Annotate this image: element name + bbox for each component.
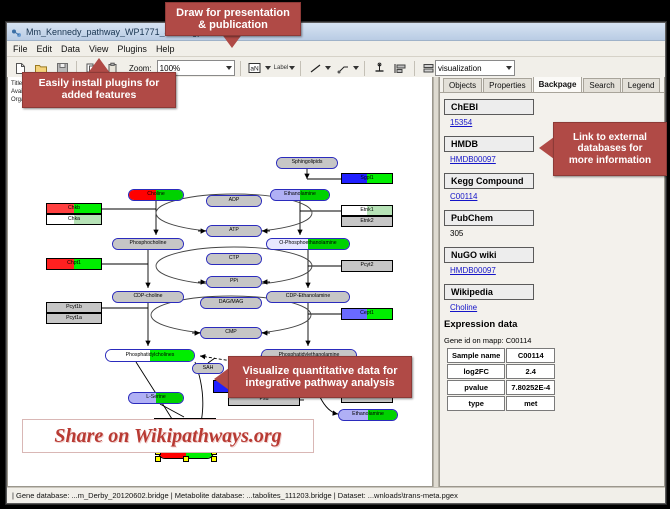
link-nugo[interactable]: HMDB00097: [450, 266, 660, 275]
screenshot-root: Mm_Kennedy_pathway_WP1771_45176.gpml Fil…: [0, 0, 670, 509]
node-label: ATP: [229, 228, 239, 233]
node-label: Chpt1: [67, 261, 81, 266]
expression-data-heading: Expression data: [444, 319, 660, 330]
chevron-down-icon[interactable]: [325, 66, 331, 70]
visualization-combo[interactable]: visualization: [435, 60, 515, 76]
table-row: Sample name C00114: [447, 348, 555, 363]
node-label: Sgpl1: [360, 176, 373, 181]
callout-plugins-text: Easily install plugins for added feature…: [39, 78, 160, 102]
chevron-down-icon[interactable]: [265, 66, 271, 70]
pathway-node-etnk1[interactable]: Etnk1: [341, 205, 393, 216]
cell-val-sample-name: C00114: [506, 348, 555, 363]
link-wikipedia[interactable]: Choline: [450, 303, 660, 312]
pathway-node-phosphatidylcholines[interactable]: Phosphatidylcholines: [105, 349, 195, 362]
interaction-group[interactable]: [334, 59, 359, 77]
tab-legend[interactable]: Legend: [622, 78, 661, 92]
node-label: Phosphatidylcholines: [126, 353, 175, 358]
gene-id-note: Gene id on mapp: C00114: [444, 336, 660, 345]
toolbar-separator-3: [300, 61, 301, 76]
callout-databases-text: Link to external databases for more info…: [569, 132, 651, 166]
tab-properties[interactable]: Properties: [483, 78, 531, 92]
node-label: Ethanolamine: [284, 192, 316, 197]
svg-text:aN: aN: [251, 65, 260, 72]
callout-databases: Link to external databases for more info…: [553, 122, 667, 176]
node-label: Chkb: [68, 206, 80, 211]
node-label: ADP: [229, 198, 240, 203]
node-label: Phosphocholine: [130, 241, 167, 246]
menu-item-plugins[interactable]: Plugins: [117, 44, 147, 54]
datanode-group[interactable]: aN: [246, 59, 271, 77]
node-label: Ethanolamine: [352, 412, 384, 417]
pathway-node-atp[interactable]: ATP: [206, 225, 262, 237]
pathway-node-choline-top[interactable]: Choline: [128, 189, 184, 201]
callout-plugins: Easily install plugins for added feature…: [22, 72, 176, 108]
section-header-kegg: Kegg Compound: [444, 173, 534, 189]
toolbar-separator-2: [240, 61, 241, 76]
callout-visualize-text: Visualize quantitative data for integrat…: [242, 365, 397, 390]
node-label: DAG/MAG: [219, 300, 244, 305]
pathway-node-sphingolipids[interactable]: Sphingolipids: [276, 157, 338, 169]
node-label: CDP-Ethanolamine: [286, 294, 330, 299]
node-label: Chka: [68, 217, 80, 222]
table-row: pvalue 7.80252E-4: [447, 380, 555, 395]
node-label: Etnk2: [360, 219, 373, 224]
pathway-node-o-phosphoethanolamine[interactable]: O-Phosphoethanolamine: [266, 238, 350, 250]
cell-key-log2fc: log2FC: [447, 364, 505, 379]
pathway-node-chpt1[interactable]: Chpt1: [46, 258, 102, 270]
callout-draw-text: Draw for presentation & publication: [176, 7, 290, 32]
pathway-node-cept1[interactable]: Cept1: [341, 308, 393, 320]
chevron-down-icon[interactable]: [353, 66, 359, 70]
menu-item-view[interactable]: View: [89, 44, 108, 54]
pathway-node-chka[interactable]: Chka: [46, 214, 102, 225]
menu-item-file[interactable]: File: [13, 44, 28, 54]
pathway-node-sgpl1[interactable]: Sgpl1: [341, 173, 393, 184]
cell-key-pvalue: pvalue: [447, 380, 505, 395]
value-pubchem: 305: [450, 229, 660, 238]
selection-handle[interactable]: [183, 456, 189, 462]
pathway-node-adp[interactable]: ADP: [206, 195, 262, 207]
callout-visualize: Visualize quantitative data for integrat…: [228, 356, 412, 398]
menu-bar: File Edit Data View Plugins Help: [7, 41, 665, 57]
pathway-node-cmp[interactable]: CMP: [200, 327, 262, 339]
tab-objects[interactable]: Objects: [443, 78, 482, 92]
section-header-chebi: ChEBI: [444, 99, 534, 115]
pathway-node-pcyt1a[interactable]: Pcyt1a: [46, 313, 102, 324]
pathway-node-ethanolamine-top[interactable]: Ethanolamine: [270, 189, 330, 201]
backpage-section-nugo: NuGO wiki HMDB00097: [444, 245, 660, 275]
pathway-node-pcyt1b[interactable]: Pcyt1b: [46, 302, 102, 313]
node-label: Etnk1: [360, 208, 373, 213]
cell-val-log2fc: 2.4: [506, 364, 555, 379]
node-label: CMP: [225, 330, 237, 335]
pathway-node-dag-mag[interactable]: DAG/MAG: [200, 297, 262, 309]
menu-item-data[interactable]: Data: [61, 44, 80, 54]
node-label: Choline: [147, 192, 165, 197]
node-label: SAH: [203, 366, 214, 371]
table-row: type met: [447, 396, 555, 411]
node-label: Pcyt1a: [66, 316, 82, 321]
pathway-node-l-serine-left[interactable]: L-Serine: [128, 392, 184, 404]
selection-handle[interactable]: [211, 456, 217, 462]
app-icon: [11, 26, 22, 37]
pathway-node-ctp[interactable]: CTP: [206, 253, 262, 265]
tab-backpage[interactable]: Backpage: [533, 77, 583, 92]
pathway-node-cdp-choline[interactable]: CDP-choline: [112, 291, 184, 303]
node-label: Cept1: [360, 311, 374, 316]
backpage-section-wikipedia: Wikipedia Choline: [444, 282, 660, 312]
callout-draw: Draw for presentation & publication: [165, 2, 301, 36]
line-group[interactable]: [306, 59, 331, 77]
node-label: PPi: [230, 279, 238, 284]
label-button-text[interactable]: Label: [274, 65, 289, 71]
cell-val-pvalue: 7.80252E-4: [506, 380, 555, 395]
label-group[interactable]: Label: [274, 65, 296, 71]
selection-handle[interactable]: [155, 456, 161, 462]
cell-key-sample-name: Sample name: [447, 348, 505, 363]
chevron-down-icon: [506, 66, 512, 70]
backpage-section-pubchem: PubChem 305: [444, 208, 660, 238]
node-label: Pcyt1b: [66, 305, 82, 310]
menu-item-edit[interactable]: Edit: [37, 44, 53, 54]
callout-databases-arrow-icon: [539, 137, 554, 159]
node-label: Sphingolipids: [292, 160, 323, 165]
visualization-value: visualization: [438, 64, 482, 73]
chevron-down-icon: [226, 66, 232, 70]
section-header-pubchem: PubChem: [444, 210, 534, 226]
pathway-node-ppi[interactable]: PPi: [206, 276, 262, 288]
toolbar-separator-5: [414, 61, 415, 76]
section-header-nugo: NuGO wiki: [444, 247, 534, 263]
side-panel-tabs: Objects Properties Backpage Search Legen…: [440, 77, 664, 93]
callout-visualize-arrow-icon: [214, 368, 229, 390]
callout-share: Share on Wikipathways.org: [22, 419, 314, 453]
link-kegg[interactable]: C00114: [450, 192, 660, 201]
table-row: log2FC 2.4: [447, 364, 555, 379]
cell-key-type: type: [447, 396, 505, 411]
node-label: L-Serine: [146, 395, 166, 400]
pathway-node-cdp-ethanolamine[interactable]: CDP-Ethanolamine: [266, 291, 350, 303]
toolbar-separator-4: [364, 61, 365, 76]
node-label: Psd: [260, 397, 269, 402]
section-header-hmdb: HMDB: [444, 136, 534, 152]
pathway-node-pcyt2[interactable]: Pcyt2: [341, 260, 393, 272]
pathway-node-etnk2[interactable]: Etnk2: [341, 216, 393, 227]
node-label: Pcyt2: [361, 263, 374, 268]
callout-share-text: Share on Wikipathways.org: [54, 425, 281, 448]
datanode-icon[interactable]: aN: [246, 59, 264, 77]
expression-data-table: Sample name C00114 log2FC 2.4 pvalue 7.8…: [446, 347, 556, 412]
cell-val-type: met: [506, 396, 555, 411]
pathway-node-chkb[interactable]: Chkb: [46, 203, 102, 214]
node-label: CTP: [229, 256, 239, 261]
anchor-icon[interactable]: [370, 59, 388, 77]
title-bar: Mm_Kennedy_pathway_WP1771_45176.gpml: [7, 23, 665, 41]
menu-item-help[interactable]: Help: [156, 44, 175, 54]
pathway-node-ethanolamine-bottom[interactable]: Ethanolamine: [338, 409, 398, 421]
tab-search[interactable]: Search: [583, 78, 620, 92]
status-bar: | Gene database: ...m_Derby_20120602.bri…: [7, 487, 665, 503]
chevron-down-icon[interactable]: [289, 66, 295, 70]
interaction-icon[interactable]: [334, 59, 352, 77]
callout-plugins-arrow-icon: [88, 58, 110, 73]
section-header-wikipedia: Wikipedia: [444, 284, 534, 300]
line-icon[interactable]: [306, 59, 324, 77]
status-text: | Gene database: ...m_Derby_20120602.bri…: [7, 491, 458, 500]
node-half-right: [234, 277, 261, 287]
align-left-icon[interactable]: [391, 59, 409, 77]
node-label: CDP-choline: [133, 294, 162, 299]
pathway-node-phosphocholine[interactable]: Phosphocholine: [112, 238, 184, 250]
node-label: O-Phosphoethanolamine: [279, 241, 336, 246]
